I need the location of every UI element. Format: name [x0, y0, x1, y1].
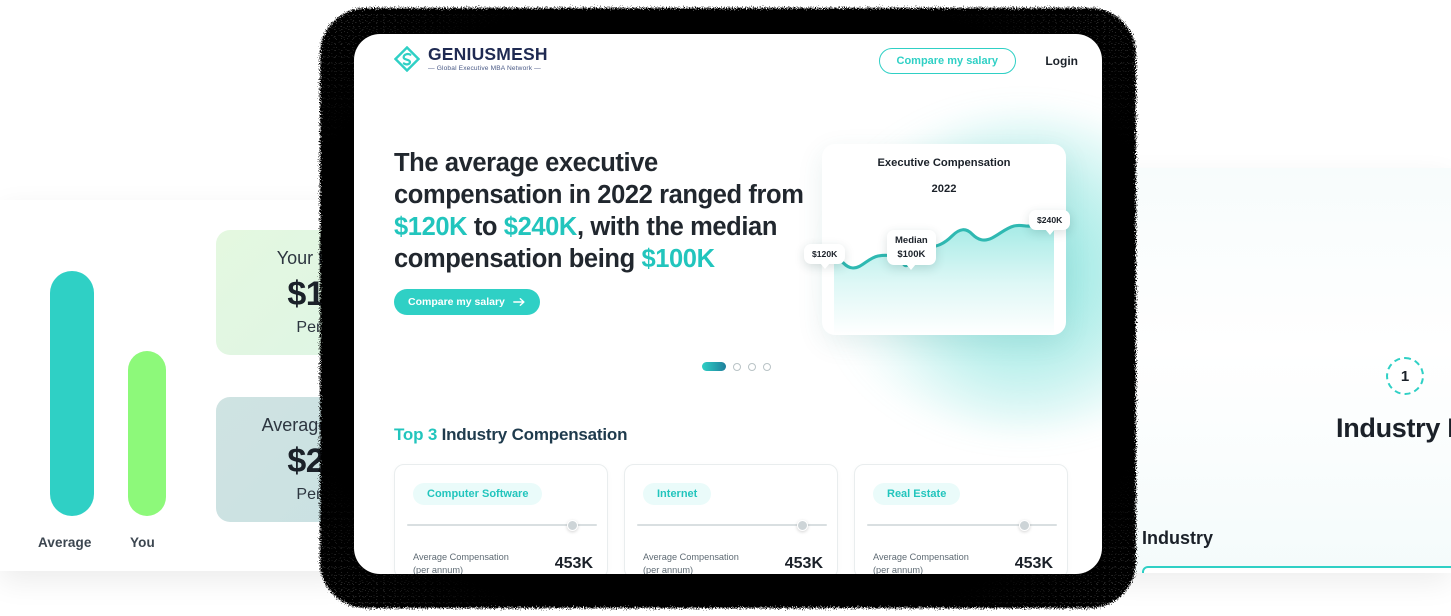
logo-mark-icon — [394, 46, 420, 72]
carousel-dot-1[interactable] — [702, 362, 726, 371]
carousel-dot-2[interactable] — [733, 363, 741, 371]
hero-line-2: compensation in 2022 ranged from — [394, 181, 803, 209]
hero-amount-low: $120K — [394, 213, 467, 241]
industry-card-list: Computer Software 100K 500K Average Comp… — [394, 464, 1068, 574]
hero-mid-2: , with the median — [577, 213, 777, 241]
hero-amount-high: $240K — [504, 213, 577, 241]
metric-line-2: (per annum) — [643, 565, 693, 574]
metric-line-1: Average Compensation — [643, 552, 739, 562]
industry-metric-label: Average Compensation (per annum) — [413, 551, 509, 574]
device-screen: GENIUSMESH — Global Executive MBA Networ… — [354, 34, 1102, 574]
industry-range-slider[interactable]: 100K 500K — [867, 520, 1057, 530]
chart-tooltip-median-value: $100K — [895, 249, 928, 260]
chart-tooltip-high: $240K — [1029, 210, 1070, 230]
bar-label-average: Average — [38, 535, 91, 550]
hero-line-1: The average executive — [394, 149, 658, 177]
step-indicator-1: 1 — [1386, 357, 1424, 395]
arrow-right-icon — [513, 297, 526, 307]
logo-name: GENIUSMESH — [428, 46, 548, 64]
industry-metric-row: Average Compensation (per annum) 453K — [873, 551, 1053, 574]
industry-card-computer-software[interactable]: Computer Software 100K 500K Average Comp… — [394, 464, 608, 574]
top3-section-title: Top 3 Industry Compensation — [394, 425, 627, 445]
hero-amount-median: $100K — [641, 245, 714, 273]
industry-metric-row: Average Compensation (per annum) 453K — [643, 551, 823, 574]
bar-you — [128, 351, 166, 516]
logo-text-group: GENIUSMESH — Global Executive MBA Networ… — [428, 46, 548, 73]
metric-line-2: (per annum) — [413, 565, 463, 574]
hero-compare-salary-button[interactable]: Compare my salary — [394, 289, 540, 315]
industry-metric-value: 453K — [1015, 555, 1053, 573]
industry-range-slider[interactable]: 100K 500K — [407, 520, 597, 530]
header-compare-salary-label: Compare my salary — [897, 55, 999, 67]
header-compare-salary-button[interactable]: Compare my salary — [879, 48, 1017, 74]
right-panel-heading: Industry In — [1336, 413, 1451, 444]
metric-line-2: (per annum) — [873, 565, 923, 574]
bar-average — [50, 271, 94, 516]
industry-card-real-estate[interactable]: Real Estate 100K 500K Average Compensati… — [854, 464, 1068, 574]
salary-bar-chart: Average You — [24, 260, 164, 550]
hero-compare-salary-label: Compare my salary — [408, 296, 505, 308]
geniusmesh-logo[interactable]: GENIUSMESH — Global Executive MBA Networ… — [394, 46, 548, 73]
left-salary-panel: Average You Your Base Pay $140K Per Annu… — [0, 200, 352, 571]
slider-knob[interactable] — [1019, 520, 1030, 531]
metric-line-1: Average Compensation — [873, 552, 969, 562]
carousel-dot-3[interactable] — [748, 363, 756, 371]
industry-range-slider[interactable]: 100K 500K — [637, 520, 827, 530]
industry-metric-label: Average Compensation (per annum) — [643, 551, 739, 574]
compensation-area-chart — [822, 144, 1066, 335]
industry-input[interactable]: Su — [1142, 566, 1451, 573]
industry-field-label: Industry — [1142, 528, 1213, 549]
hero-headline: The average executive compensation in 20… — [394, 147, 804, 276]
executive-compensation-chart-card: Executive Compensation 2022 — [822, 144, 1066, 335]
industry-metric-label: Average Compensation (per annum) — [873, 551, 969, 574]
hero-mid-1: to — [467, 213, 504, 241]
industry-tag: Internet — [643, 483, 711, 505]
hero-line-4-prefix: compensation being — [394, 245, 641, 273]
slider-knob[interactable] — [797, 520, 808, 531]
carousel-dots — [702, 362, 771, 371]
chart-tooltip-median-label: Median — [895, 235, 928, 246]
metric-line-1: Average Compensation — [413, 552, 509, 562]
industry-metric-value: 453K — [785, 555, 823, 573]
bar-label-you: You — [130, 535, 155, 550]
site-header: GENIUSMESH — Global Executive MBA Networ… — [354, 34, 1102, 90]
login-label: Login — [1045, 54, 1078, 68]
chart-tooltip-median: Median $100K — [887, 230, 936, 265]
industry-tag: Computer Software — [413, 483, 542, 505]
industry-card-internet[interactable]: Internet 100K 500K Average Compensation … — [624, 464, 838, 574]
login-link[interactable]: Login — [1045, 48, 1078, 74]
screenshot-stage: Average You Your Base Pay $140K Per Annu… — [0, 0, 1451, 616]
logo-tagline: — Global Executive MBA Network — — [428, 66, 548, 73]
right-form-panel: 1 Industry In Industry Su — [1100, 168, 1451, 573]
chart-tooltip-low: $120K — [804, 244, 845, 264]
carousel-dot-4[interactable] — [763, 363, 771, 371]
industry-metric-row: Average Compensation (per annum) 453K — [413, 551, 593, 574]
slider-knob[interactable] — [567, 520, 578, 531]
top3-accent: Top 3 — [394, 425, 437, 444]
top3-rest: Industry Compensation — [437, 425, 627, 444]
chart-tooltip-low-value: $120K — [812, 249, 837, 259]
industry-tag: Real Estate — [873, 483, 960, 505]
chart-tooltip-high-value: $240K — [1037, 215, 1062, 225]
industry-metric-value: 453K — [555, 555, 593, 573]
